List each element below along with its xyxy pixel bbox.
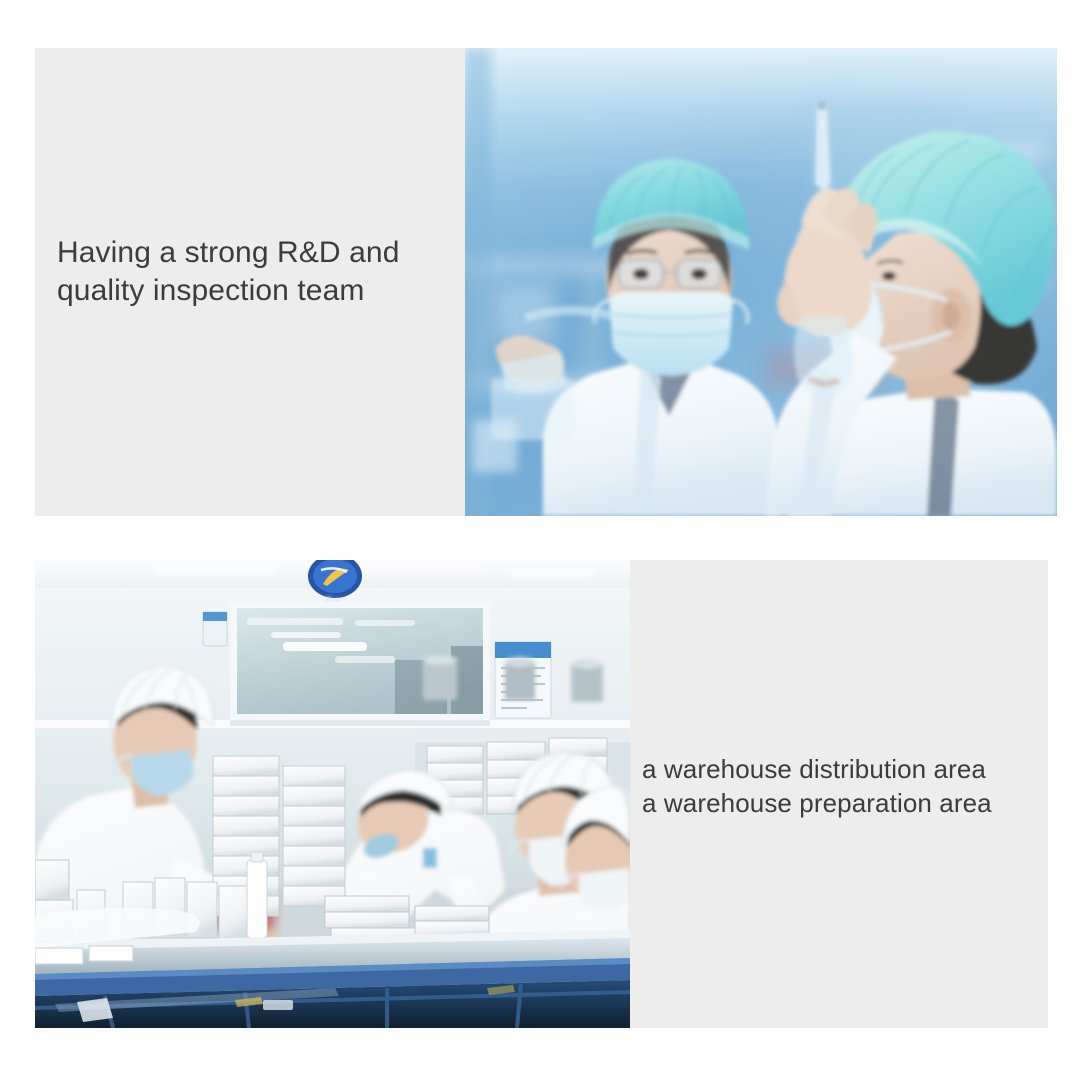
warehouse-packing-area-photo <box>35 560 630 1028</box>
warehouse-scene <box>35 560 630 1028</box>
bottom-section: a warehouse distribution area a warehous… <box>35 560 1048 1028</box>
top-section: Having a strong R&D and quality inspecti… <box>35 48 1057 516</box>
lab-scene <box>465 48 1057 516</box>
top-caption-text: Having a strong R&D and quality inspecti… <box>57 234 457 311</box>
bottom-caption-text: a warehouse distribution area a warehous… <box>642 752 1062 821</box>
showcase-page: Having a strong R&D and quality inspecti… <box>0 0 1080 1080</box>
lab-quality-inspection-photo <box>465 48 1057 516</box>
warehouse-scene-svg <box>35 560 630 1028</box>
lab-scene-svg <box>465 48 1057 516</box>
